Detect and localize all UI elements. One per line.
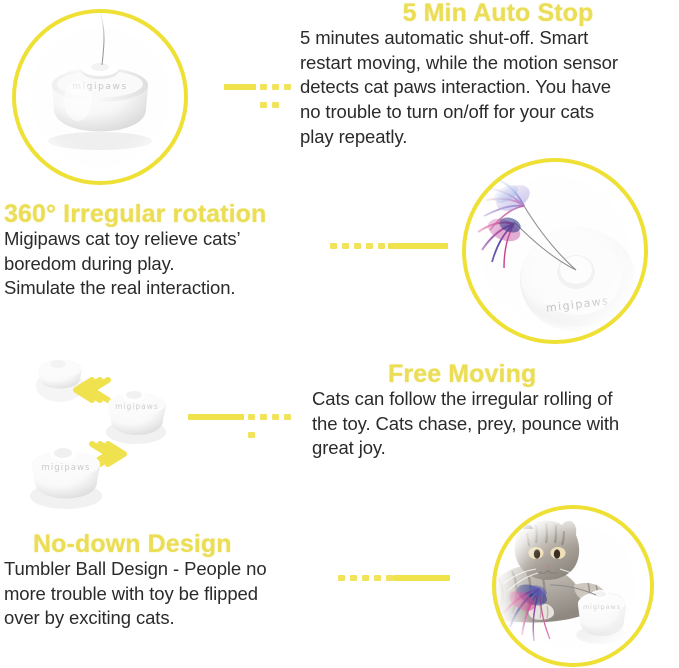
connector-solid-segment	[393, 575, 450, 581]
body-line: great joy.	[312, 436, 672, 461]
svg-text:migipaws: migipaws	[583, 603, 621, 611]
connector-solid-segment	[224, 84, 256, 90]
feature-title-irregular-rotation: 360° Irregular rotation	[4, 201, 334, 227]
feature-text-free-moving: Free Moving Cats can follow the irregula…	[312, 361, 672, 461]
body-line: Simulate the real interaction.	[4, 276, 334, 301]
toy-ball-far	[36, 360, 84, 403]
infographic-canvas: migipaws 5 Min Auto Stop 5 minutes autom…	[0, 0, 679, 668]
body-line: Migipaws cat toy relieve cats’	[4, 227, 334, 252]
connector-dash-segment	[248, 414, 298, 420]
toy-top-view-illustration: migipaws	[466, 162, 644, 340]
feature-title-auto-stop: 5 Min Auto Stop	[352, 0, 644, 26]
svg-text:migipaws: migipaws	[115, 402, 159, 411]
body-line: restart moving, while the motion sensor	[300, 51, 672, 76]
feature-image-auto-stop: migipaws	[12, 9, 188, 185]
feature-image-irregular-rotation: migipaws	[462, 158, 648, 344]
toy-ball-near: migipaws	[30, 447, 102, 509]
toy-ball-middle: migipaws	[106, 390, 166, 444]
feature-title-free-moving: Free Moving	[388, 361, 672, 387]
body-line: boredom during play.	[4, 252, 334, 277]
connector-no-down-design	[338, 575, 450, 581]
connector-solid-segment	[388, 243, 448, 249]
toy-side-view-illustration: migipaws	[16, 13, 184, 181]
feature-text-auto-stop: 5 Min Auto Stop 5 minutes automatic shut…	[300, 0, 672, 149]
body-line: 5 minutes automatic shut-off. Smart	[300, 26, 672, 51]
feature-title-no-down-design: No-down Design	[33, 531, 324, 557]
feature-image-free-moving: migipaws migipaws	[8, 348, 198, 513]
feature-body-no-down-design: Tumbler Ball Design - People no more tro…	[4, 557, 324, 631]
feature-text-no-down-design: No-down Design Tumbler Ball Design - Peo…	[4, 531, 324, 631]
feature-body-irregular-rotation: Migipaws cat toy relieve cats’ boredom d…	[4, 227, 334, 301]
body-line: Cats can follow the irregular rolling of	[312, 387, 672, 412]
connector-irregular-rotation	[330, 243, 448, 249]
svg-text:migipaws: migipaws	[41, 463, 90, 473]
body-line: Tumbler Ball Design - People no	[4, 557, 324, 582]
feather-tuft-lower	[478, 214, 524, 268]
connector-free-moving	[188, 414, 298, 420]
body-line: more trouble with toy be flipped	[4, 582, 324, 607]
connector-solid-segment	[188, 414, 244, 420]
feature-body-free-moving: Cats can follow the irregular rolling of…	[312, 387, 672, 461]
body-line: the toy. Cats chase, prey, pounce with	[312, 412, 672, 437]
cat-playing-illustration: migipaws	[496, 509, 650, 663]
body-line: play repeatly.	[300, 125, 672, 150]
feature-text-irregular-rotation: 360° Irregular rotation Migipaws cat toy…	[4, 201, 334, 301]
body-line: no trouble to turn on/off for your cats	[300, 100, 672, 125]
feature-body-auto-stop: 5 minutes automatic shut-off. Smart rest…	[300, 26, 672, 149]
connector-dash-segment	[260, 84, 300, 90]
body-line: detects cat paws interaction. You have	[300, 75, 672, 100]
three-balls-motion-illustration: migipaws migipaws	[8, 348, 198, 513]
connector-auto-stop	[224, 84, 300, 90]
body-line: over by exciting cats.	[4, 606, 324, 631]
feature-image-no-down-design: migipaws	[492, 505, 654, 667]
